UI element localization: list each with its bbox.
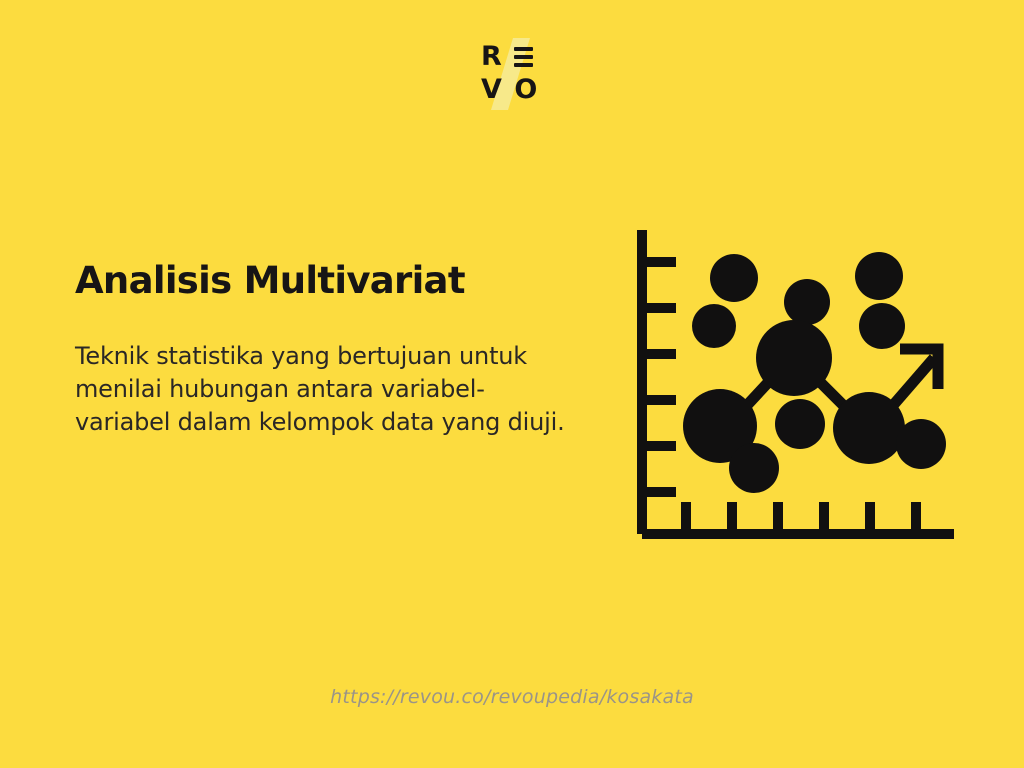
logo-letter-e-icon [514, 46, 533, 68]
data-point-small [729, 443, 779, 493]
page-title: Analisis Multivariat [75, 258, 595, 304]
scatter-plot-illustration [624, 218, 964, 548]
y-axis-ticks [642, 262, 676, 492]
logo-mark: R V O [475, 41, 549, 107]
revou-logo: R V O [0, 38, 1024, 110]
logo-letter-r: R [481, 43, 501, 70]
data-points [683, 252, 946, 493]
data-point-small [775, 399, 825, 449]
data-point-large [833, 392, 905, 464]
data-point-large [756, 320, 832, 396]
data-point [859, 303, 905, 349]
data-point [710, 254, 758, 302]
data-point [692, 304, 736, 348]
footer: https://revou.co/revoupedia/kosakata [0, 686, 1024, 708]
logo-row-bottom: V O [481, 76, 537, 103]
data-point-small [896, 419, 946, 469]
definition-text: Teknik statistika yang bertujuan untuk m… [75, 304, 575, 439]
logo-letter-v: V [481, 76, 501, 103]
footer-url[interactable]: https://revou.co/revoupedia/kosakata [330, 686, 694, 708]
slide-card: R V O Analisis Multivariat Teknik statis… [0, 0, 1024, 768]
data-point [855, 252, 903, 300]
text-column: Analisis Multivariat Teknik statistika y… [75, 258, 595, 439]
logo-letter-o: O [514, 76, 536, 103]
logo-row-top: R [481, 43, 533, 70]
data-point [784, 279, 830, 325]
